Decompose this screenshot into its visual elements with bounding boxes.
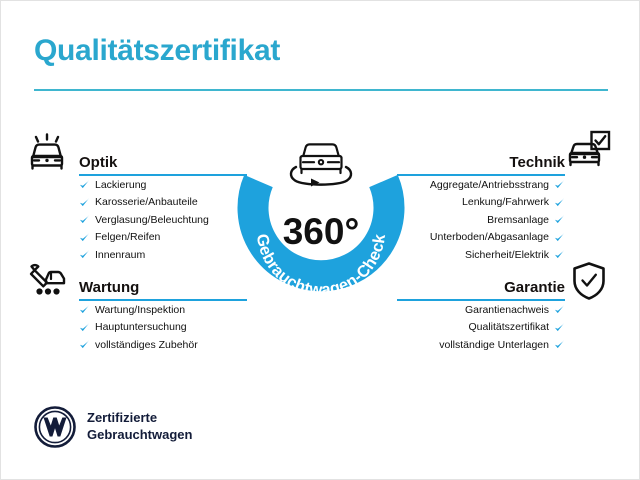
badge-center-label: 360°: [283, 211, 360, 252]
check-icon: [554, 179, 565, 190]
list-item-label: Karosserie/Anbauteile: [95, 197, 198, 208]
list-item: Garantienachweis: [397, 301, 565, 319]
list-item-label: Qualitätszertifikat: [468, 322, 549, 333]
section-technik-title: Technik: [509, 154, 565, 171]
list-item-label: Sicherheit/Elektrik: [465, 250, 549, 261]
list-item: Qualitätszertifikat: [397, 319, 565, 337]
check-icon: [554, 322, 565, 333]
section-optik-title: Optik: [79, 154, 117, 171]
list-item-label: vollständige Unterlagen: [439, 340, 549, 351]
shield-check-icon: [571, 261, 607, 301]
check-icon: [79, 232, 90, 243]
footer-text: Zertifizierte Gebrauchtwagen: [87, 410, 192, 443]
check-icon: [79, 197, 90, 208]
check-icon: [79, 304, 90, 315]
section-optik-items: Lackierung Karosserie/Anbauteile Verglas…: [79, 176, 247, 264]
list-item: Lenkung/Fahrwerk: [397, 194, 565, 212]
check-icon: [79, 322, 90, 333]
car-front-rotate-icon: [291, 144, 351, 186]
list-item: Lackierung: [79, 176, 247, 194]
check-icon: [79, 214, 90, 225]
car-shine-icon: [25, 133, 69, 173]
check-icon: [79, 249, 90, 260]
list-item: Karosserie/Anbauteile: [79, 194, 247, 212]
list-item-label: Felgen/Reifen: [95, 232, 160, 243]
section-technik-items: Aggregate/Antriebsstrang Lenkung/Fahrwer…: [397, 176, 565, 264]
list-item: vollständige Unterlagen: [397, 336, 565, 354]
list-item-label: Garantienachweis: [465, 305, 549, 316]
section-wartung-header: Wartung: [79, 271, 247, 301]
car-checkbox-icon: [567, 130, 611, 170]
section-technik: Technik Aggregate/Antriebsstrang Lenkung…: [397, 146, 565, 264]
check-icon: [554, 197, 565, 208]
badge-360-gebrauchtwagen-check: Gebrauchtwagen-Check 360°: [233, 119, 409, 309]
check-icon: [554, 339, 565, 350]
page-title: Qualitätszertifikat: [34, 34, 280, 68]
list-item-label: Lenkung/Fahrwerk: [462, 197, 549, 208]
list-item-label: vollständiges Zubehör: [95, 340, 198, 351]
list-item: Sicherheit/Elektrik: [397, 246, 565, 264]
section-optik-header: Optik: [79, 146, 247, 176]
check-icon: [554, 249, 565, 260]
section-garantie-items: Garantienachweis Qualitätszertifikat vol…: [397, 301, 565, 354]
list-item: Verglasung/Beleuchtung: [79, 211, 247, 229]
list-item: Unterboden/Abgasanlage: [397, 229, 565, 247]
section-technik-divider: [397, 174, 565, 176]
section-technik-header: Technik: [397, 146, 565, 176]
list-item-label: Bremsanlage: [487, 215, 549, 226]
section-optik-divider: [79, 174, 247, 176]
list-item-label: Hauptuntersuchung: [95, 322, 187, 333]
vw-logo: [34, 406, 76, 448]
list-item: vollständiges Zubehör: [79, 336, 247, 354]
section-garantie-divider: [397, 299, 565, 301]
check-icon: [79, 339, 90, 350]
section-garantie-header: Garantie: [397, 271, 565, 301]
footer-line-1: Zertifizierte: [87, 410, 192, 427]
section-wartung-items: Wartung/Inspektion Hauptuntersuchung vol…: [79, 301, 247, 354]
list-item: Hauptuntersuchung: [79, 319, 247, 337]
list-item: Aggregate/Antriebsstrang: [397, 176, 565, 194]
section-wartung-title: Wartung: [79, 279, 139, 296]
certificate-page: Qualitätszertifikat Optik Lackierung Kar…: [0, 0, 640, 480]
check-icon: [554, 304, 565, 315]
list-item-label: Innenraum: [95, 250, 145, 261]
list-item-label: Unterboden/Abgasanlage: [430, 232, 549, 243]
list-item: Innenraum: [79, 246, 247, 264]
list-item: Wartung/Inspektion: [79, 301, 247, 319]
car-service-tool-icon: [25, 260, 69, 300]
check-icon: [79, 179, 90, 190]
check-icon: [554, 214, 565, 225]
section-wartung: Wartung Wartung/Inspektion Hauptuntersuc…: [79, 271, 247, 354]
footer-branding: Zertifizierte Gebrauchtwagen: [34, 406, 192, 448]
list-item-label: Wartung/Inspektion: [95, 305, 185, 316]
section-garantie-title: Garantie: [504, 279, 565, 296]
section-garantie: Garantie Garantienachweis Qualitätszerti…: [397, 271, 565, 354]
list-item: Felgen/Reifen: [79, 229, 247, 247]
section-wartung-divider: [79, 299, 247, 301]
list-item-label: Lackierung: [95, 180, 146, 191]
list-item-label: Aggregate/Antriebsstrang: [430, 180, 549, 191]
section-optik: Optik Lackierung Karosserie/Anbauteile: [79, 146, 247, 264]
header-divider: [34, 89, 608, 91]
footer-line-2: Gebrauchtwagen: [87, 427, 192, 444]
check-icon: [554, 232, 565, 243]
list-item-label: Verglasung/Beleuchtung: [95, 215, 209, 226]
list-item: Bremsanlage: [397, 211, 565, 229]
